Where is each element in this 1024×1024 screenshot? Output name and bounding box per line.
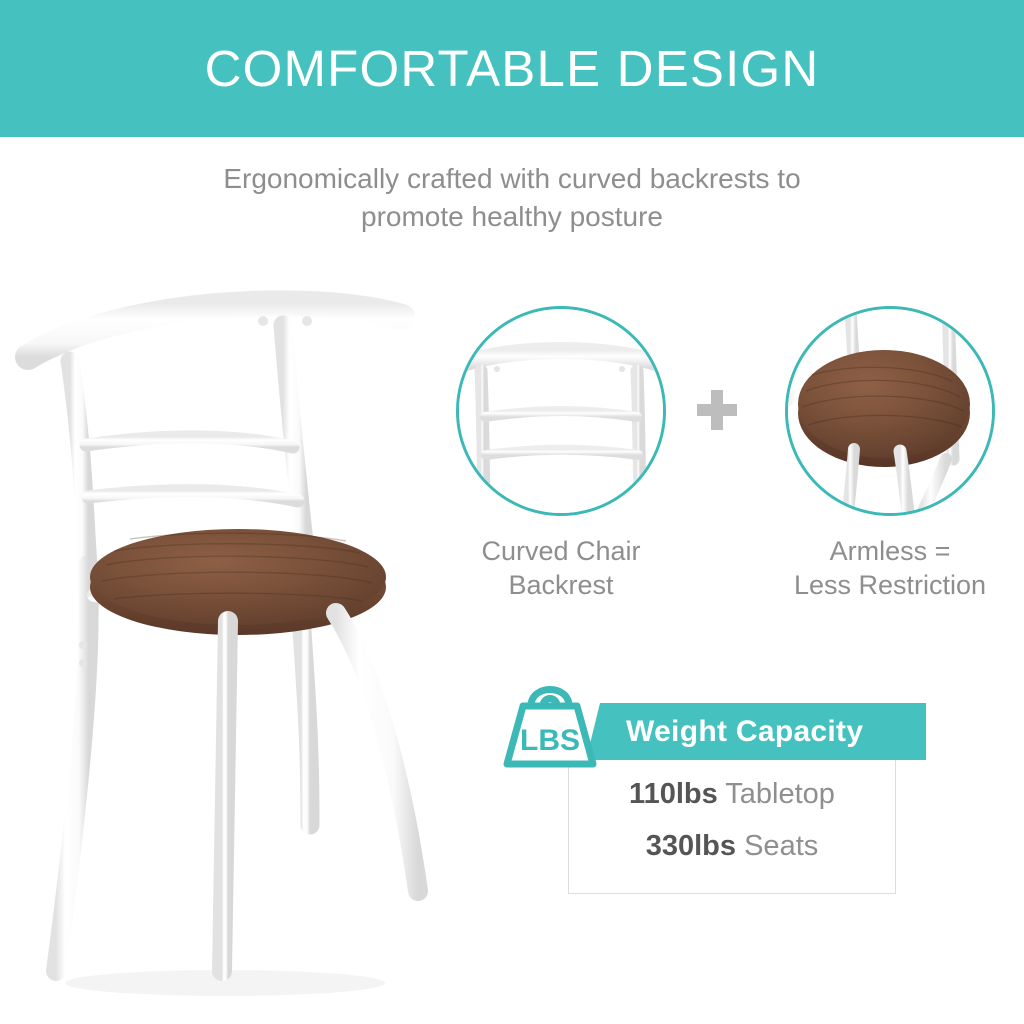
weight-label-tabletop: Tabletop bbox=[725, 778, 835, 810]
feature-caption-armless-line1: Armless = bbox=[770, 534, 1010, 568]
feature-caption-backrest-line1: Curved Chair bbox=[441, 534, 681, 568]
weight-value-seats: 330lbs bbox=[646, 830, 736, 862]
product-feature-infographic: COMFORTABLE DESIGN Ergonomically crafted… bbox=[0, 0, 1024, 1024]
subtitle: Ergonomically crafted with curved backre… bbox=[112, 160, 912, 236]
chair-backrest-icon bbox=[459, 309, 663, 513]
round-wood-seat-icon bbox=[788, 309, 992, 513]
weight-capacity-block: Weight Capacity LBS 110lbs Tabletop 330l… bbox=[498, 664, 938, 914]
feature-circle-backrest bbox=[456, 306, 666, 516]
weight-value-tabletop: 110lbs bbox=[629, 778, 718, 810]
feature-caption-armless-line2: Less Restriction bbox=[770, 568, 1010, 602]
subtitle-line-1: Ergonomically crafted with curved backre… bbox=[112, 160, 912, 198]
subtitle-line-2: promote healthy posture bbox=[112, 198, 912, 236]
feature-circle-armless bbox=[785, 306, 995, 516]
feature-curved-backrest: Curved Chair Backrest bbox=[441, 306, 681, 602]
svg-text:LBS: LBS bbox=[520, 724, 580, 757]
lbs-weight-icon: LBS bbox=[498, 664, 602, 774]
weight-row-seats: 330lbs Seats bbox=[568, 820, 896, 872]
weight-label-seats: Seats bbox=[744, 830, 818, 862]
weight-values-list: 110lbs Tabletop 330lbs Seats bbox=[568, 768, 896, 872]
chair-illustration bbox=[10, 265, 460, 1005]
feature-caption-armless: Armless = Less Restriction bbox=[770, 534, 1010, 602]
hero-product-image bbox=[10, 265, 460, 1005]
weight-capacity-banner: Weight Capacity bbox=[586, 703, 926, 760]
plus-icon bbox=[697, 390, 737, 430]
weight-row-tabletop: 110lbs Tabletop bbox=[568, 768, 896, 820]
plus-icon-vertical-bar bbox=[711, 390, 723, 430]
header-banner: COMFORTABLE DESIGN bbox=[0, 0, 1024, 137]
feature-caption-backrest-line2: Backrest bbox=[441, 568, 681, 602]
feature-armless: Armless = Less Restriction bbox=[770, 306, 1010, 602]
feature-caption-backrest: Curved Chair Backrest bbox=[441, 534, 681, 602]
weight-capacity-label: Weight Capacity bbox=[626, 703, 863, 760]
page-title: COMFORTABLE DESIGN bbox=[0, 0, 1024, 137]
